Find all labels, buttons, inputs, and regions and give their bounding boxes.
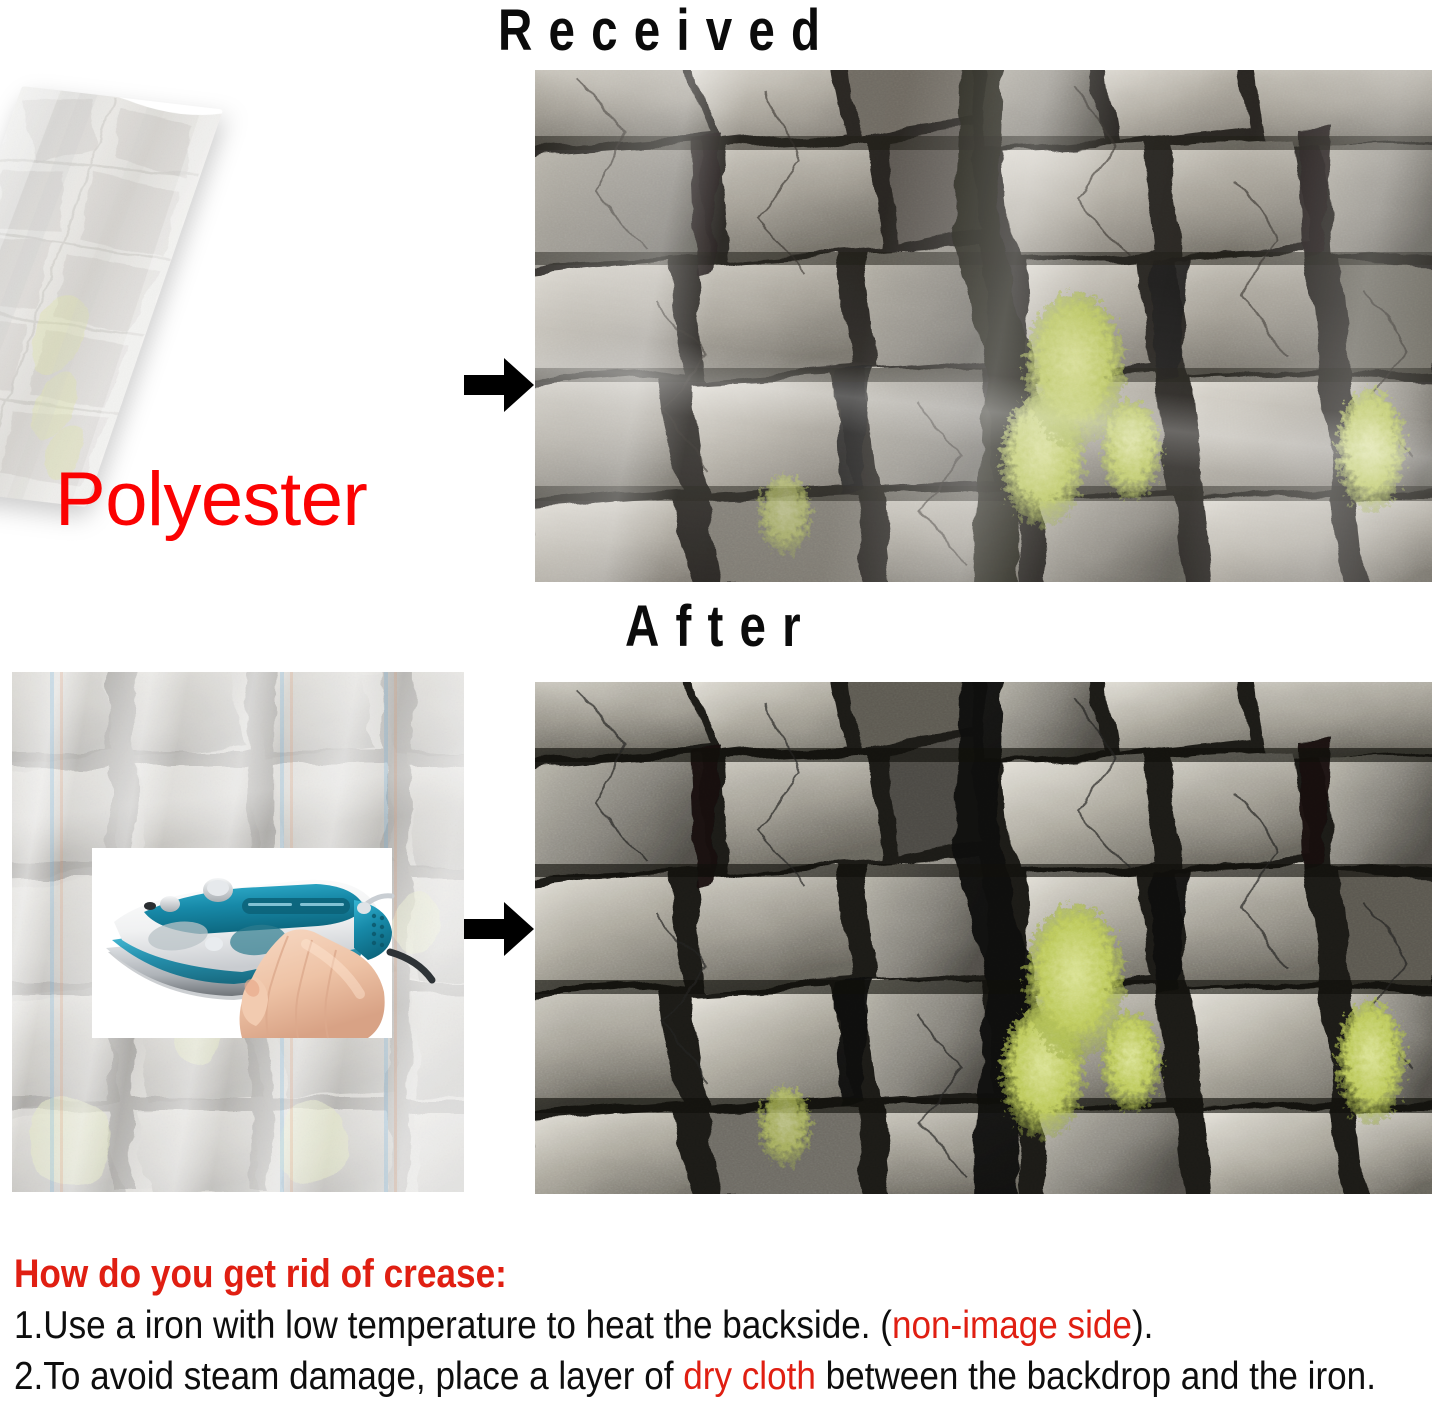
instruction-1-text-a: 1.Use a iron with low temperature to hea… [14, 1304, 892, 1347]
photo-received [535, 70, 1432, 582]
section-title-received: Received [498, 2, 836, 60]
folded-fabric-swatch [0, 86, 223, 507]
section-title-after: After [625, 598, 817, 656]
iron-demo-photo [92, 848, 392, 1038]
instruction-2-text-a: 2.To avoid steam damage, place a layer o… [14, 1355, 683, 1398]
instruction-1-highlight: non-image side [892, 1304, 1132, 1347]
instruction-line-1: 1.Use a iron with low temperature to hea… [14, 1303, 1292, 1348]
right-arrow-icon [462, 356, 536, 419]
photo-after [535, 682, 1432, 1194]
product-infographic: Received [0, 0, 1436, 1401]
instruction-line-2: 2.To avoid steam damage, place a layer o… [14, 1354, 1292, 1399]
instructions-block: How do you get rid of crease: 1.Use a ir… [14, 1252, 1434, 1399]
instruction-2-highlight: dry cloth [683, 1355, 816, 1398]
polyester-label: Polyester [55, 462, 367, 538]
instruction-1-text-b: ). [1132, 1304, 1153, 1347]
instruction-2-text-b: between the backdrop and the iron. [816, 1355, 1376, 1398]
instructions-heading: How do you get rid of crease: [14, 1252, 1264, 1297]
right-arrow-icon [462, 900, 536, 963]
